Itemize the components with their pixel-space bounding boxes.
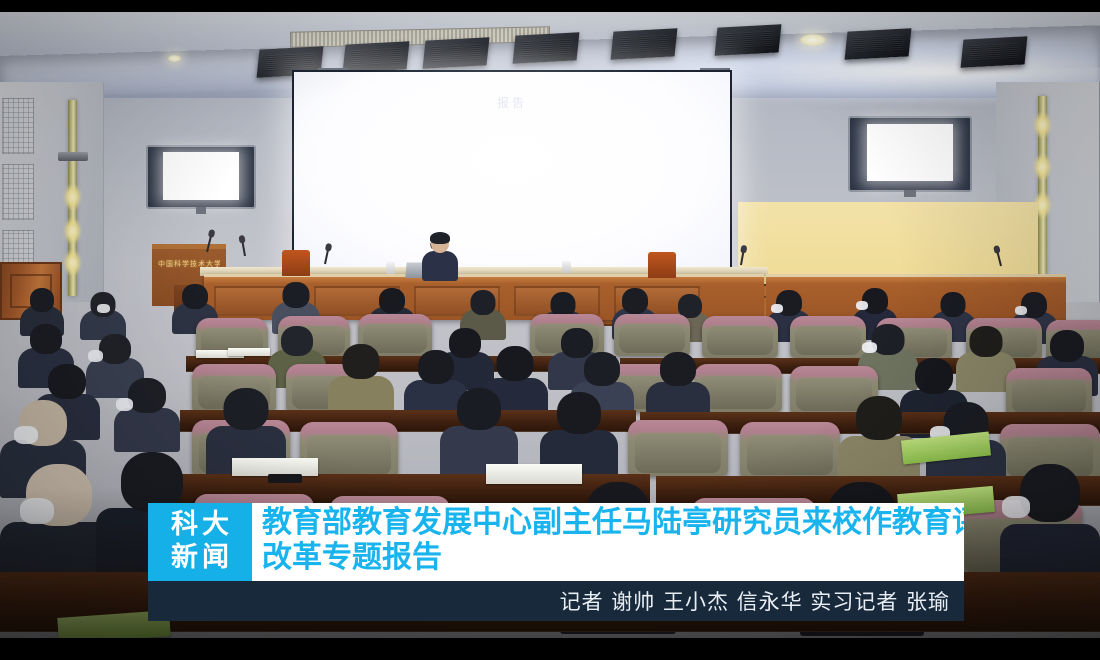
sconce-glow: [64, 250, 81, 276]
station-badge-line-1: 科大: [167, 508, 233, 541]
wall-monitor-left: [146, 145, 256, 209]
person-head: [1020, 464, 1080, 522]
credit-text: 记者 谢帅 王小杰 信永华 实习记者 张瑜: [560, 586, 950, 616]
person-torso: [114, 408, 180, 452]
presenter-torso: [422, 251, 458, 281]
slide-title-text: 报告: [497, 94, 527, 111]
seated-presenter: [420, 234, 460, 280]
auditorium-seat: [790, 316, 866, 358]
acoustic-panel: [2, 164, 34, 220]
ceiling-speaker-icon: [715, 24, 782, 56]
person-head: [283, 282, 310, 308]
person-head: [418, 350, 454, 384]
person-head: [856, 396, 902, 440]
person-head: [457, 388, 501, 430]
wall-sconce-left: [68, 100, 77, 296]
notebook-paper: [228, 348, 270, 356]
ceiling-speaker-icon: [343, 41, 410, 73]
person-head: [99, 334, 131, 364]
station-badge: 科大 新闻: [148, 503, 252, 581]
downlight-icon: [800, 34, 826, 46]
person-head: [941, 292, 966, 317]
station-badge-line-2: 新闻: [167, 541, 233, 574]
auditorium-seat: [614, 314, 690, 356]
person-head: [281, 326, 313, 356]
face-mask-icon: [1015, 306, 1027, 315]
smartphone-icon: [268, 474, 302, 483]
person-head: [660, 352, 696, 386]
stage-chair: [282, 250, 310, 276]
sconce-glow: [64, 218, 81, 244]
person-head: [584, 352, 620, 386]
sconce-bracket: [58, 152, 88, 161]
person-head: [497, 346, 534, 381]
auditorium-seat: [740, 422, 840, 478]
stage-chair: [648, 252, 676, 278]
audience-member: [328, 344, 394, 420]
headline-block: 教育部教育发展中心副主任马陆亭研究员来校作教育评价 改革专题报告: [252, 503, 964, 581]
person-head: [970, 326, 1003, 357]
face-mask-icon: [116, 398, 133, 411]
ceiling-speaker-icon: [961, 36, 1028, 68]
face-mask-icon: [856, 301, 868, 310]
sconce-glow: [64, 184, 81, 210]
face-mask-icon: [20, 498, 54, 524]
face-mask-icon: [862, 342, 877, 353]
person-head: [48, 364, 86, 399]
person-head: [915, 358, 953, 394]
person-head: [343, 344, 380, 379]
lower-third-caption: 科大 新闻 教育部教育发展中心副主任马陆亭研究员来校作教育评价 改革专题报告 记…: [148, 503, 964, 621]
acoustic-panel: [2, 98, 34, 154]
face-mask-icon: [88, 350, 103, 362]
wall-monitor-right-screen: [867, 124, 953, 182]
audience-member: [80, 292, 126, 336]
person-head: [622, 288, 648, 314]
person-head: [557, 392, 601, 434]
person-head: [128, 378, 166, 413]
face-mask-icon: [14, 426, 38, 444]
ceiling-speaker-icon: [845, 28, 912, 60]
broadcast-frame: 报告 中国科学技术大学: [0, 0, 1100, 660]
headline-line-2: 改革专题报告: [262, 539, 956, 577]
wall-sconce-right: [1038, 96, 1047, 296]
sconce-glow: [1034, 112, 1051, 138]
audience-member: [114, 378, 180, 448]
projection-screen: 报告: [292, 70, 732, 280]
ceiling-speaker-icon: [513, 32, 580, 64]
headline-line-1: 教育部教育发展中心副主任马陆亭研究员来校作教育评价: [262, 504, 956, 542]
face-mask-icon: [771, 304, 783, 313]
person-head: [224, 388, 269, 430]
presenter-hair: [430, 232, 450, 244]
person-head: [30, 288, 54, 312]
water-cup: [386, 262, 395, 274]
person-head: [30, 324, 62, 354]
auditorium-seat: [702, 316, 778, 358]
caption-credit-row: 记者 谢帅 王小杰 信永华 实习记者 张瑜: [148, 581, 964, 621]
caption-headline-row: 科大 新闻 教育部教育发展中心副主任马陆亭研究员来校作教育评价 改革专题报告: [148, 503, 964, 581]
auditorium-seat: [1006, 368, 1092, 416]
face-mask-icon: [97, 304, 110, 313]
wall-monitor-left-screen: [163, 152, 239, 200]
monitor-stand: [904, 190, 916, 197]
sconce-glow: [1034, 154, 1051, 180]
person-head: [182, 284, 208, 309]
letterbox-top: [0, 0, 1100, 12]
face-mask-icon: [1002, 496, 1030, 518]
water-cup: [562, 261, 571, 273]
auditorium-seat: [628, 420, 728, 476]
person-head: [471, 290, 496, 315]
person-head: [1050, 330, 1084, 362]
projection-screen-surface: 报告: [294, 72, 730, 278]
monitor-stand: [196, 207, 207, 214]
letterbox-bottom: [0, 638, 1100, 660]
downlight-icon: [168, 55, 181, 62]
wall-monitor-right: [848, 116, 972, 192]
ceiling-speaker-icon: [611, 28, 678, 60]
ceiling-speaker-icon: [423, 37, 490, 69]
person-head: [379, 288, 405, 313]
open-notebook: [486, 464, 582, 484]
